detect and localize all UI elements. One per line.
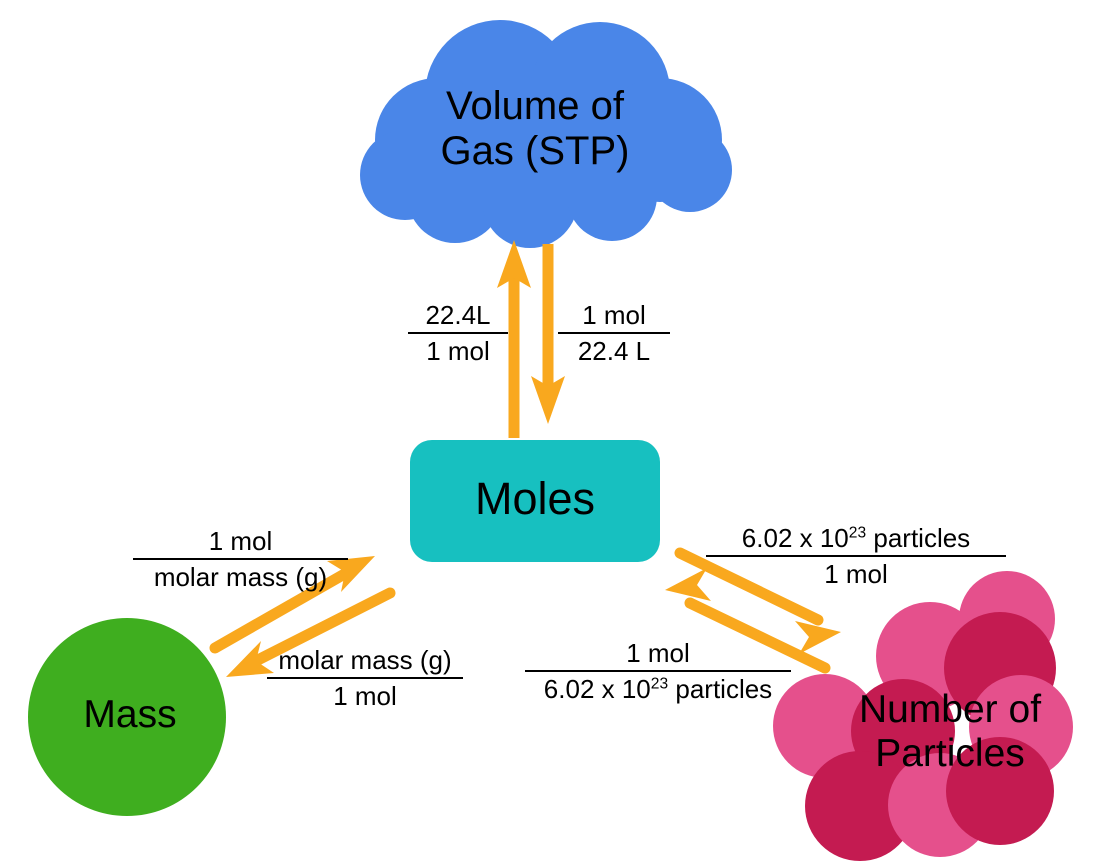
fraction-denominator: 1 mol bbox=[267, 679, 463, 712]
fraction-denominator: 6.02 x 1023 particles bbox=[525, 672, 791, 705]
mole-conversion-diagram: Volume of Gas (STP) Moles Mass Number of… bbox=[0, 0, 1104, 862]
fraction-denominator: 1 mol bbox=[408, 334, 508, 367]
diagram-canvas bbox=[0, 0, 1104, 862]
avogadro-unit: particles bbox=[866, 523, 970, 553]
fraction-denominator: 1 mol bbox=[706, 557, 1006, 590]
conversion-moles-to-volume: 22.4L 1 mol bbox=[408, 300, 508, 366]
conversion-moles-to-particles: 6.02 x 1023 particles 1 mol bbox=[706, 523, 1006, 589]
avogadro-coefficient: 6.02 x 10 bbox=[544, 674, 651, 704]
fraction-numerator: molar mass (g) bbox=[267, 645, 463, 679]
fraction-denominator: molar mass (g) bbox=[133, 560, 348, 593]
conversion-moles-to-mass: molar mass (g) 1 mol bbox=[267, 645, 463, 711]
fraction-numerator: 1 mol bbox=[525, 638, 791, 672]
fraction-numerator: 6.02 x 1023 particles bbox=[706, 523, 1006, 557]
avogadro-coefficient: 6.02 x 10 bbox=[742, 523, 849, 553]
conversion-mass-to-moles: 1 mol molar mass (g) bbox=[133, 526, 348, 592]
conversion-particles-to-moles: 1 mol 6.02 x 1023 particles bbox=[525, 638, 791, 704]
fraction-numerator: 1 mol bbox=[133, 526, 348, 560]
moles-box-shape[interactable] bbox=[410, 440, 660, 562]
mass-circle-shape[interactable] bbox=[28, 618, 226, 816]
fraction-denominator: 22.4 L bbox=[558, 334, 670, 367]
avogadro-exponent: 23 bbox=[651, 675, 668, 692]
avogadro-unit: particles bbox=[668, 674, 772, 704]
fraction-numerator: 22.4L bbox=[408, 300, 508, 334]
conversion-volume-to-moles: 1 mol 22.4 L bbox=[558, 300, 670, 366]
volume-of-gas-cloud-shape[interactable] bbox=[360, 20, 732, 248]
avogadro-exponent: 23 bbox=[849, 524, 866, 541]
fraction-numerator: 1 mol bbox=[558, 300, 670, 334]
